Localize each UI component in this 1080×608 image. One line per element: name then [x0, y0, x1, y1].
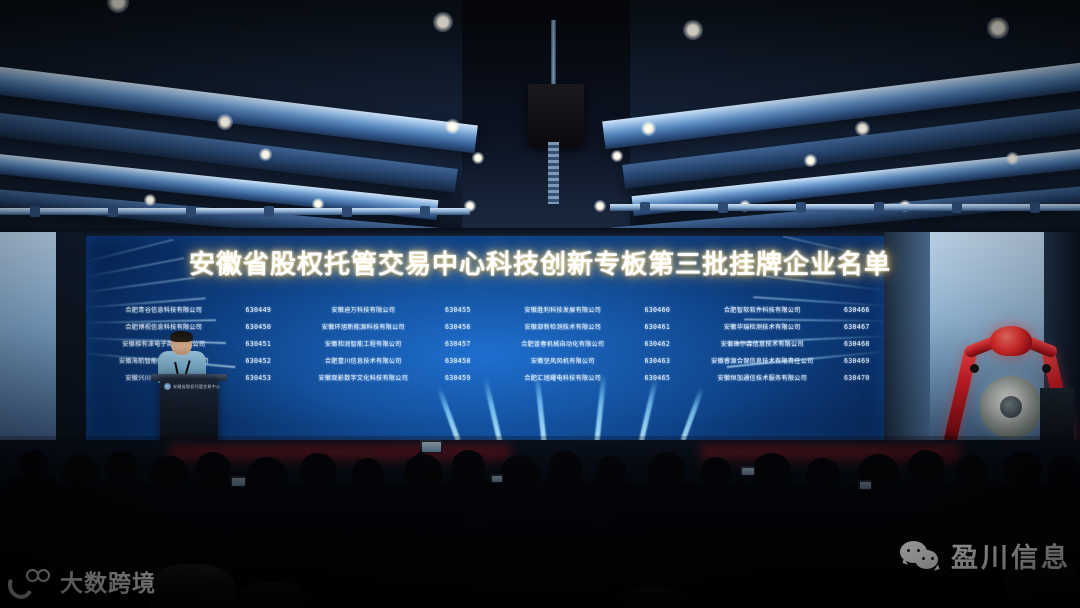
lighting-truss-2 — [610, 204, 1080, 211]
phone-screen — [860, 482, 871, 489]
company-code: 630452 — [246, 353, 286, 370]
led-beam-line — [681, 387, 705, 441]
truss-clamp — [108, 206, 118, 217]
audience-lit-shirt — [236, 582, 306, 608]
ceiling-spotlight — [472, 152, 484, 164]
ceiling-spotlight — [641, 121, 656, 136]
hanging-speaker-icon — [528, 84, 584, 146]
gong-knot-right — [1042, 364, 1051, 373]
audience-lit-shirt — [620, 586, 682, 608]
audience-lit-shirt — [148, 564, 236, 608]
conference-photo: 安徽省股权托管交易中心科技创新专板第三批挂牌企业名单 合肥青谷信息科技有限公司6… — [0, 0, 1080, 608]
phone-screen — [422, 442, 441, 452]
company-row: 安徽部新检测技术有限公司630461 — [485, 319, 685, 336]
company-name: 合肥壹川信息技术有限公司 — [286, 353, 446, 370]
company-name: 合肥汇旭耀电科技有限公司 — [485, 370, 645, 387]
company-row: 合肥普春机械自动化有限公司630462 — [485, 336, 685, 353]
gong-arm-left — [943, 346, 978, 446]
wechat-icon — [900, 541, 942, 571]
company-row: 合肥青谷信息科技有限公司630449 — [86, 302, 286, 319]
phone-screen — [742, 468, 754, 475]
truss-clamp — [874, 202, 884, 213]
company-row: 安徽环旭新能源科技有限公司630456 — [286, 319, 486, 336]
brand-mark-icon — [8, 568, 52, 594]
company-row: 合肥智软软件科技有限公司630466 — [685, 302, 885, 319]
ceiling-spotlight — [804, 154, 817, 167]
company-column-2: 安徽迪万科技有限公司630455安徽环旭新能源科技有限公司630456安徽和润智… — [286, 300, 486, 392]
company-code: 630455 — [445, 302, 485, 319]
watermark-right-label: 盈川信息 — [951, 536, 1071, 575]
company-name: 合肥普春机械自动化有限公司 — [485, 336, 645, 353]
company-code: 630457 — [445, 336, 485, 353]
company-name: 安徽迪万科技有限公司 — [286, 302, 446, 319]
company-row: 安徽观影数字文化科技有限公司630459 — [286, 370, 486, 387]
company-row: 合肥壹川信息技术有限公司630458 — [286, 353, 486, 370]
watermark-left: 大数跨境 — [8, 564, 156, 598]
raised-arm — [736, 478, 745, 516]
company-name: 安徽珠尔森信息技术有限公司 — [685, 336, 845, 353]
company-code: 630451 — [246, 336, 286, 353]
ceiling-spotlight — [259, 148, 272, 161]
company-code: 630449 — [246, 302, 286, 319]
company-row: 安徽和润智能工程有限公司630457 — [286, 336, 486, 353]
company-row: 安徽珠尔森信息技术有限公司630468 — [685, 336, 885, 353]
company-row: 安徽坚风风机有限公司630463 — [485, 353, 685, 370]
speaker-hair — [170, 331, 193, 342]
company-name: 安徽华瑞检测技术有限公司 — [685, 319, 845, 336]
speaker-rod — [551, 20, 556, 90]
ceiling-spotlight — [855, 121, 870, 136]
company-row: 安徽睿源合保信息技术有限责任公司630469 — [685, 353, 885, 370]
ceiling-spotlight — [683, 20, 703, 40]
truss-clamp — [342, 206, 352, 217]
company-code: 630466 — [844, 302, 884, 319]
ceiling-spotlight — [107, 0, 129, 13]
company-name: 合肥博视信息科技有限公司 — [86, 319, 246, 336]
company-column-4: 合肥智软软件科技有限公司630466安徽华瑞检测技术有限公司630467安徽珠尔… — [685, 300, 885, 392]
company-name: 安徽和润智能工程有限公司 — [286, 336, 446, 353]
ceiling-spotlight — [445, 119, 460, 134]
company-name: 安徽观影数字文化科技有限公司 — [286, 370, 446, 387]
watermark-left-label: 大数跨境 — [60, 564, 156, 598]
podium-label: 安徽省股权托管交易中心 — [173, 383, 217, 390]
truss-clamp — [796, 202, 806, 213]
phone-screen — [492, 476, 502, 482]
company-code: 630453 — [246, 370, 286, 387]
company-code: 630465 — [645, 370, 685, 387]
truss-clamp — [420, 206, 430, 217]
company-code: 630458 — [445, 353, 485, 370]
lighting-truss-1 — [0, 208, 470, 215]
ceiling-spotlight — [1006, 152, 1019, 165]
company-name: 安徽恒加通信技术服务有限公司 — [685, 370, 845, 387]
truss-clamp — [264, 206, 274, 217]
company-name: 安徽坚风风机有限公司 — [485, 353, 645, 370]
truss-clamp — [640, 202, 650, 213]
speaker-cable — [548, 142, 559, 204]
company-code: 630468 — [844, 336, 884, 353]
company-name: 合肥智软软件科技有限公司 — [685, 302, 845, 319]
truss-clamp — [952, 202, 962, 213]
audience — [0, 436, 1080, 608]
company-name: 安徽睿源合保信息技术有限责任公司 — [685, 353, 845, 370]
gong-flower-icon — [990, 326, 1032, 356]
watermark-right: 盈川信息 — [900, 536, 1071, 575]
company-row: 安徽胜利科技发展有限公司630460 — [485, 302, 685, 319]
audience-head — [700, 526, 768, 591]
company-name: 安徽部新检测技术有限公司 — [485, 319, 645, 336]
truss-clamp — [718, 202, 728, 213]
company-name: 安徽胜利科技发展有限公司 — [485, 302, 645, 319]
company-column-3: 安徽胜利科技发展有限公司630460安徽部新检测技术有限公司630461合肥普春… — [485, 300, 685, 392]
company-code: 630460 — [645, 302, 685, 319]
company-row: 合肥汇旭耀电科技有限公司630465 — [485, 370, 685, 387]
ceiling-spotlight — [611, 150, 623, 162]
gong-boss — [1000, 396, 1022, 418]
truss-clamp — [186, 206, 196, 217]
company-row: 安徽恒加通信技术服务有限公司630470 — [685, 370, 885, 387]
phone-screen — [232, 478, 245, 486]
company-code: 630456 — [445, 319, 485, 336]
company-name: 安徽环旭新能源科技有限公司 — [286, 319, 446, 336]
ceiling-spotlight — [594, 200, 606, 212]
screen-title: 安徽省股权托管交易中心科技创新专板第三批挂牌企业名单 — [0, 244, 1080, 281]
ceiling-spotlight — [217, 114, 233, 130]
company-code: 630462 — [645, 336, 685, 353]
ceiling-spotlight — [433, 12, 453, 32]
gong-knot-left — [970, 364, 979, 373]
truss-clamp — [30, 206, 40, 217]
company-row: 安徽华瑞检测技术有限公司630467 — [685, 319, 885, 336]
truss-clamp — [1030, 202, 1040, 213]
raised-arm — [228, 488, 237, 528]
ceiling — [0, 0, 1080, 236]
company-code: 630470 — [844, 370, 884, 387]
company-code: 630450 — [246, 319, 286, 336]
company-name: 合肥青谷信息科技有限公司 — [86, 302, 246, 319]
company-row: 安徽迪万科技有限公司630455 — [286, 302, 486, 319]
raised-arm — [416, 452, 426, 506]
led-beam-line — [437, 387, 461, 441]
company-code: 630461 — [645, 319, 685, 336]
company-code: 630469 — [844, 353, 884, 370]
company-code: 630463 — [645, 353, 685, 370]
company-code: 630459 — [445, 370, 485, 387]
podium-logo-icon — [164, 383, 171, 390]
ceiling-spotlight — [144, 194, 156, 206]
company-code: 630467 — [844, 319, 884, 336]
ceiling-spotlight — [987, 17, 1009, 39]
